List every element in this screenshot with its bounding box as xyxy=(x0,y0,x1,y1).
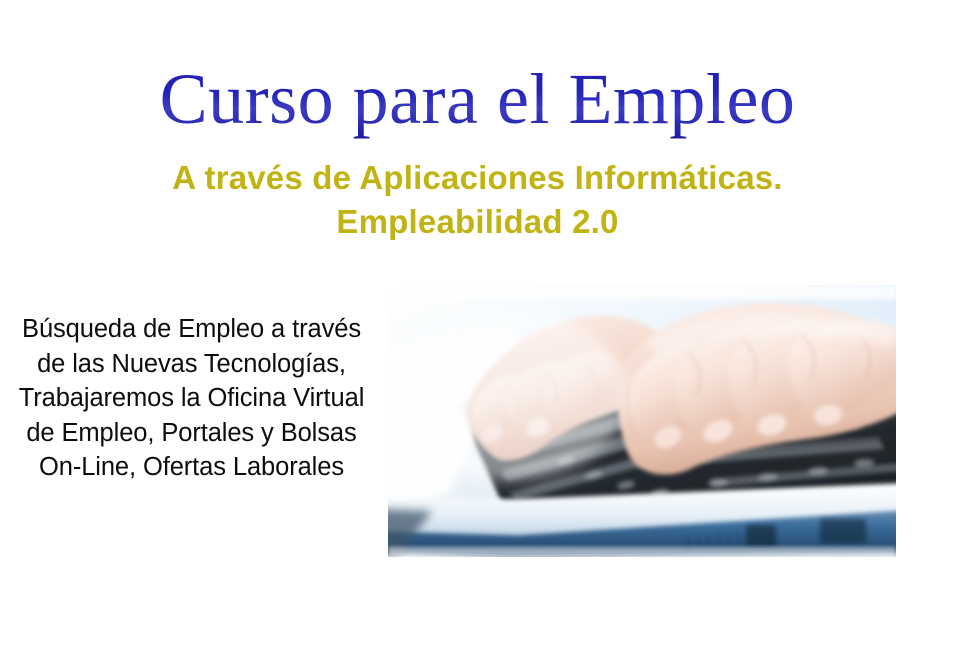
slide-canvas: Curso para el Empleo A través de Aplicac… xyxy=(0,0,955,655)
page-subtitle: A través de Aplicaciones Informáticas. E… xyxy=(0,156,955,244)
hands-typing-on-laptop-keyboard-photo xyxy=(388,285,896,557)
subtitle-line-1: A través de Aplicaciones Informáticas. xyxy=(172,159,782,196)
body-paragraph: Búsqueda de Empleo a través de las Nueva… xyxy=(14,312,369,485)
subtitle-line-2: Empleabilidad 2.0 xyxy=(0,200,955,244)
laptop-photo-illustration xyxy=(388,285,896,557)
page-title: Curso para el Empleo xyxy=(0,58,955,140)
